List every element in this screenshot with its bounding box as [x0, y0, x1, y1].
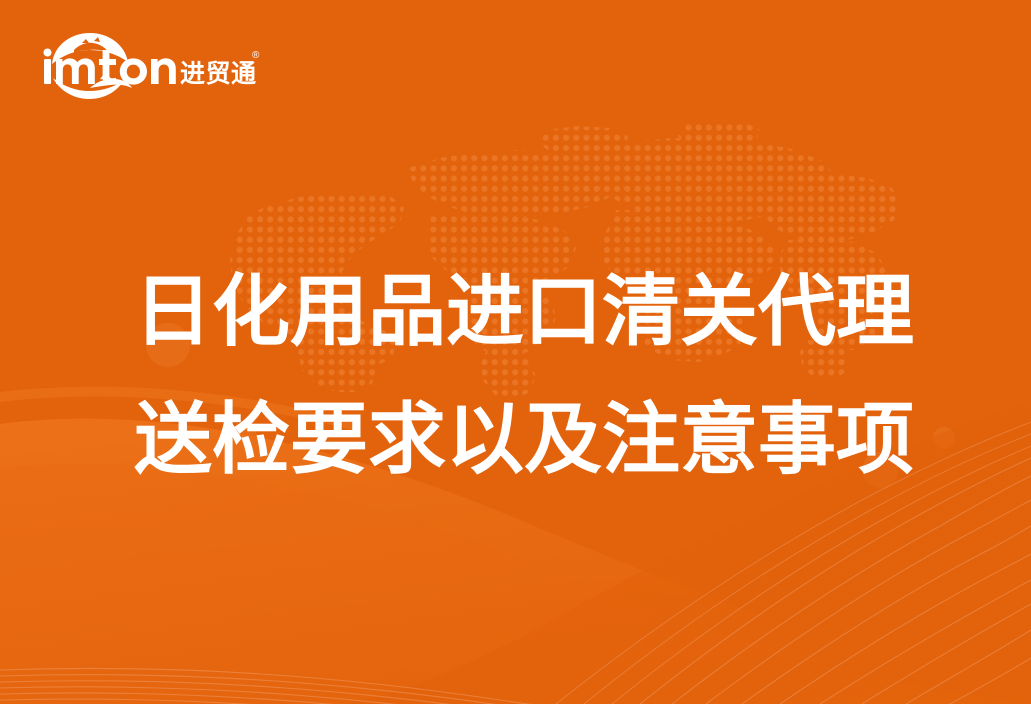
headline-block: 日化用品进口清关代理 送检要求以及注意事项	[134, 247, 924, 503]
promo-banner: 进贸通 ® 日化用品进口清关代理 送检要求以及注意事项	[0, 0, 1031, 704]
registered-trademark-icon: ®	[252, 50, 260, 61]
headline-line-1: 日化用品进口清关代理	[134, 247, 924, 375]
headline-line-2: 送检要求以及注意事项	[134, 375, 924, 503]
logo-chinese-name: 进贸通	[180, 60, 257, 88]
brand-logo[interactable]: 进贸通 ®	[38, 28, 216, 104]
